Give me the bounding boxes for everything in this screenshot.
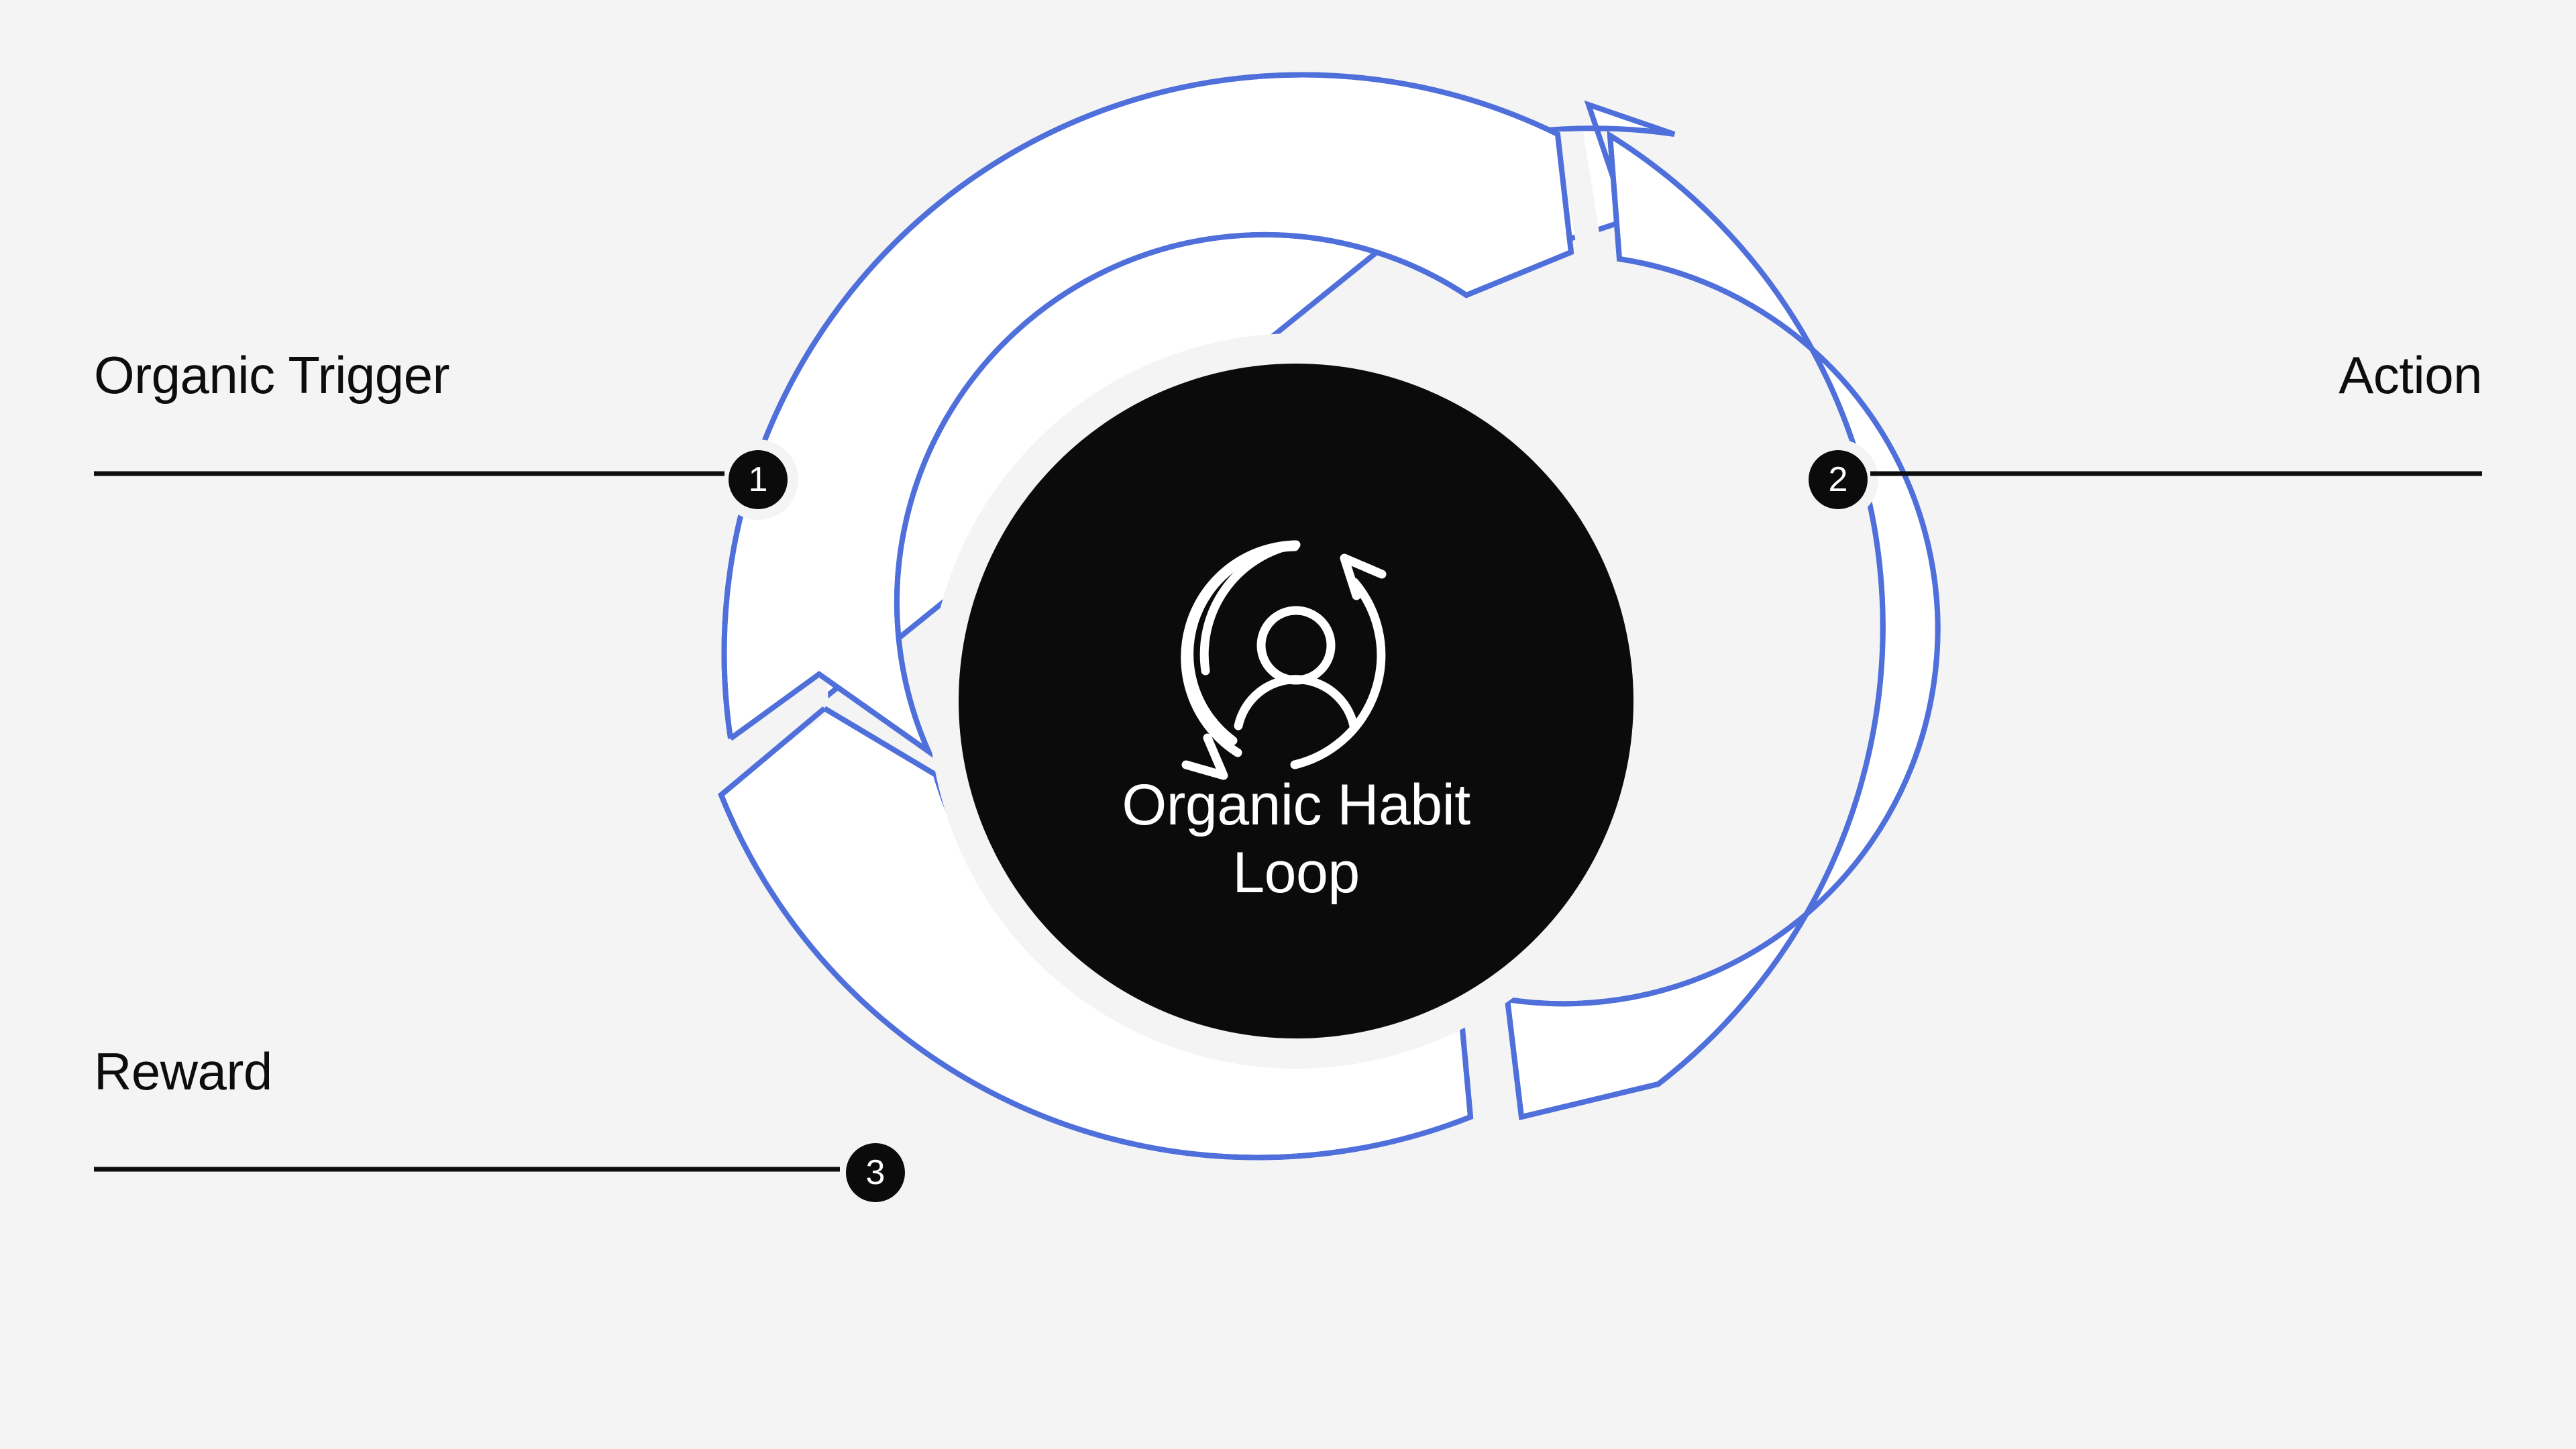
- label-text-action: Action: [1870, 349, 2482, 401]
- center-title-line-1: Organic Habit: [994, 771, 1598, 839]
- step-label-action[interactable]: Action: [1870, 349, 2482, 401]
- badge-1-number: 1: [749, 460, 768, 499]
- step-badge-2[interactable]: 2: [1798, 439, 1878, 520]
- diagram-canvas: 1 2 3 Organic Trigger Action: [0, 0, 2576, 1449]
- habit-loop-diagram: 1 2 3: [0, 0, 2576, 1449]
- step-label-reward[interactable]: Reward: [94, 1045, 840, 1097]
- step-label-organic-trigger[interactable]: Organic Trigger: [94, 349, 724, 401]
- label-text-organic-trigger: Organic Trigger: [94, 349, 724, 401]
- badge-2-number: 2: [1829, 460, 1848, 499]
- step-badge-1[interactable]: 1: [718, 439, 798, 520]
- center-title: Organic Habit Loop: [994, 771, 1598, 908]
- step-badge-3[interactable]: 3: [835, 1132, 916, 1213]
- center-title-line-2: Loop: [994, 839, 1598, 907]
- badge-3-number: 3: [866, 1153, 885, 1192]
- label-text-reward: Reward: [94, 1045, 840, 1097]
- center-disc: [959, 364, 1633, 1038]
